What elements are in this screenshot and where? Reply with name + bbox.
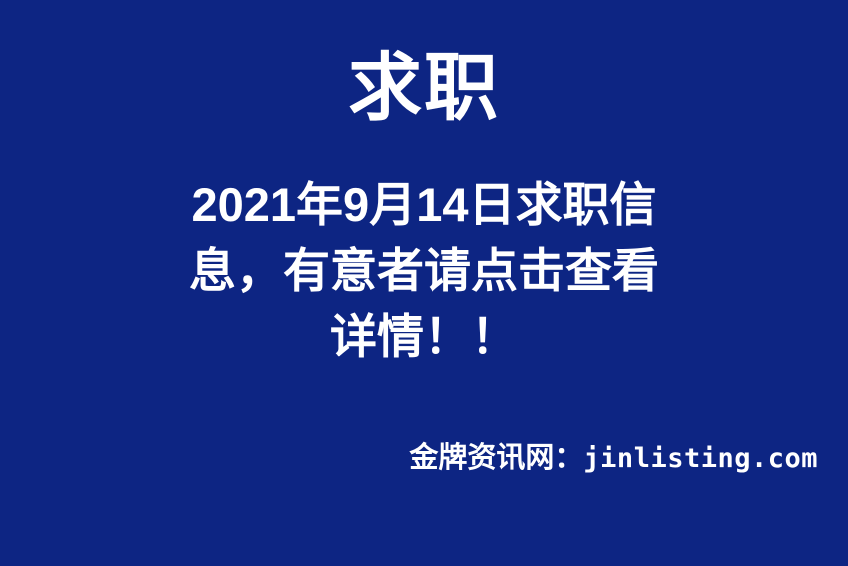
site-domain-label: jinlisting.com	[583, 445, 818, 472]
poster-canvas: 求职 2021年9月14日求职信 息，有意者请点击查看 详情！！ 金牌资讯网： …	[0, 0, 848, 566]
announcement-line-2: 息，有意者请点击查看	[0, 238, 848, 304]
announcement-line-1: 2021年9月14日求职信	[0, 172, 848, 238]
announcement-line-3: 详情！！	[0, 304, 848, 370]
site-name-label: 金牌资讯网：	[409, 444, 583, 473]
page-title: 求职	[0, 48, 848, 128]
footer-attribution: 金牌资讯网： jinlisting.com	[409, 444, 818, 473]
announcement-text: 2021年9月14日求职信 息，有意者请点击查看 详情！！	[0, 172, 848, 370]
